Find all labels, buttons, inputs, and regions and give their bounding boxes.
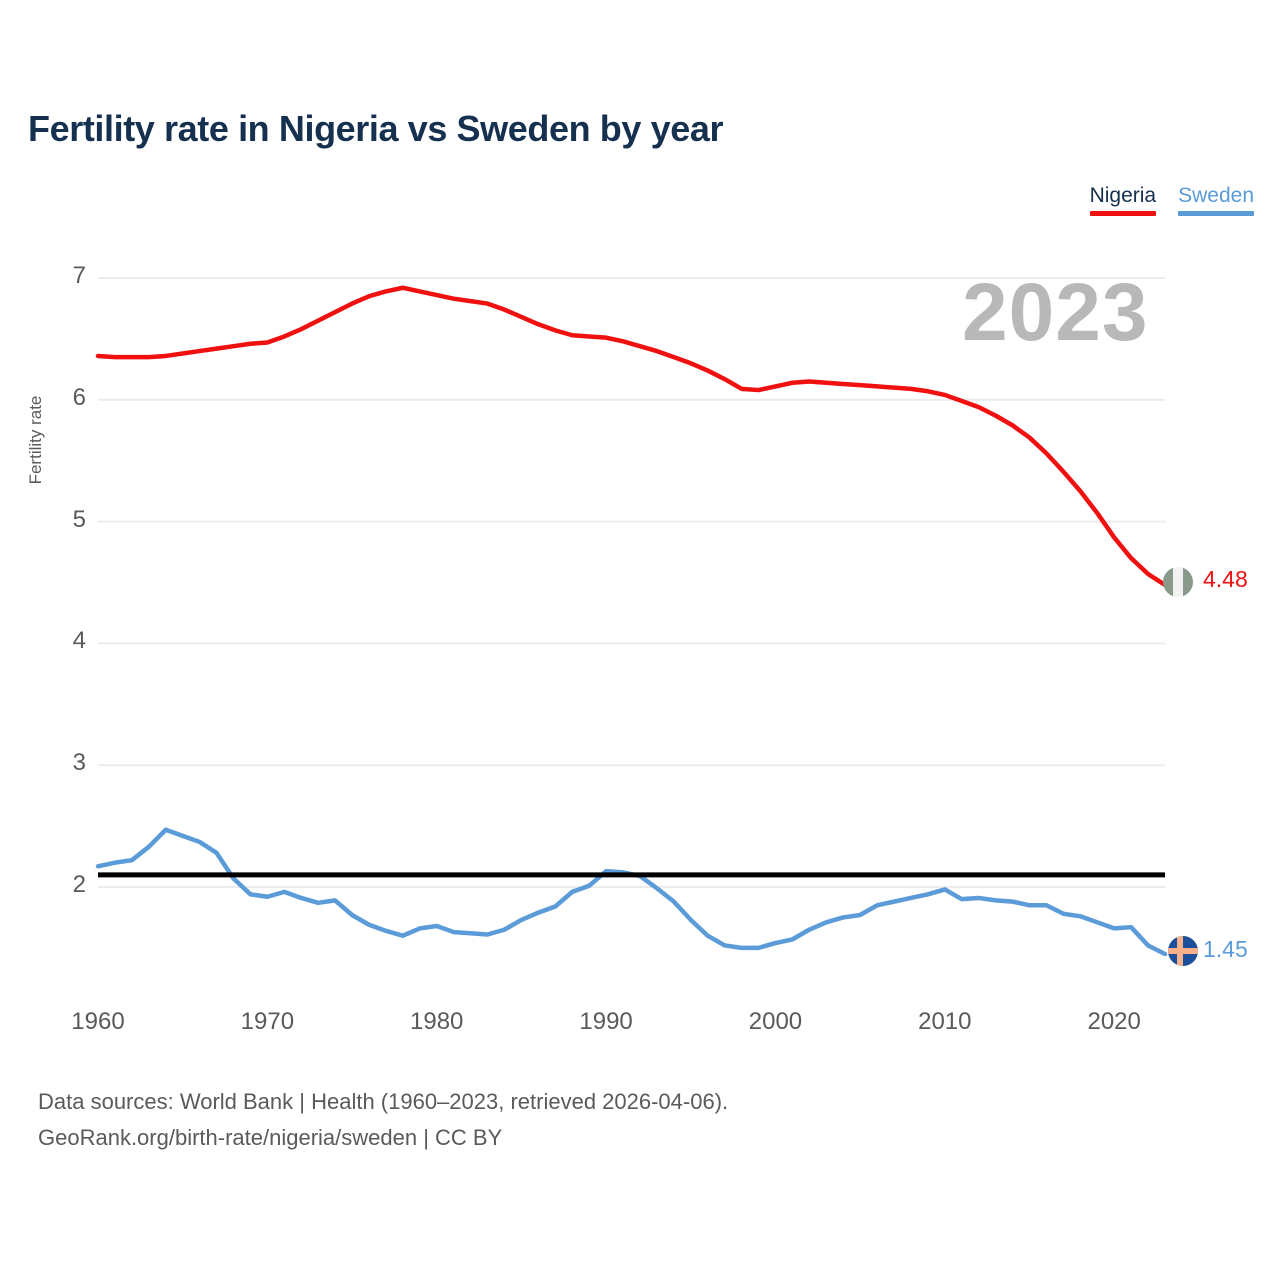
nigeria-flag-icon <box>1163 567 1193 597</box>
footer-line-2: GeoRank.org/birth-rate/nigeria/sweden | … <box>38 1120 728 1156</box>
x-axis-tick-label: 1980 <box>377 1008 497 1036</box>
footer-sources: Data sources: World Bank | Health (1960–… <box>38 1084 728 1156</box>
y-axis-tick-label: 6 <box>38 384 86 412</box>
x-axis-tick-label: 1970 <box>207 1008 327 1036</box>
x-axis-tick-label: 2010 <box>885 1008 1005 1036</box>
x-axis-tick-label: 2000 <box>715 1008 835 1036</box>
line-series-nigeria <box>98 288 1165 585</box>
sweden-flag-icon <box>1168 936 1198 966</box>
y-axis-tick-label: 3 <box>38 749 86 777</box>
footer-line-1: Data sources: World Bank | Health (1960–… <box>38 1084 728 1120</box>
grid-lines <box>98 278 1165 887</box>
end-value-nigeria: 4.48 <box>1203 566 1248 593</box>
end-value-sweden: 1.45 <box>1203 936 1248 963</box>
x-axis-tick-label: 1960 <box>38 1008 158 1036</box>
y-axis-tick-label: 2 <box>38 871 86 899</box>
y-axis-tick-label: 4 <box>38 627 86 655</box>
x-axis-tick-label: 1990 <box>546 1008 666 1036</box>
y-axis-tick-label: 7 <box>38 262 86 290</box>
line-series-sweden <box>98 830 1165 954</box>
y-axis-tick-label: 5 <box>38 506 86 534</box>
x-axis-tick-label: 2020 <box>1054 1008 1174 1036</box>
chart-page: Fertility rate in Nigeria vs Sweden by y… <box>0 0 1280 1280</box>
